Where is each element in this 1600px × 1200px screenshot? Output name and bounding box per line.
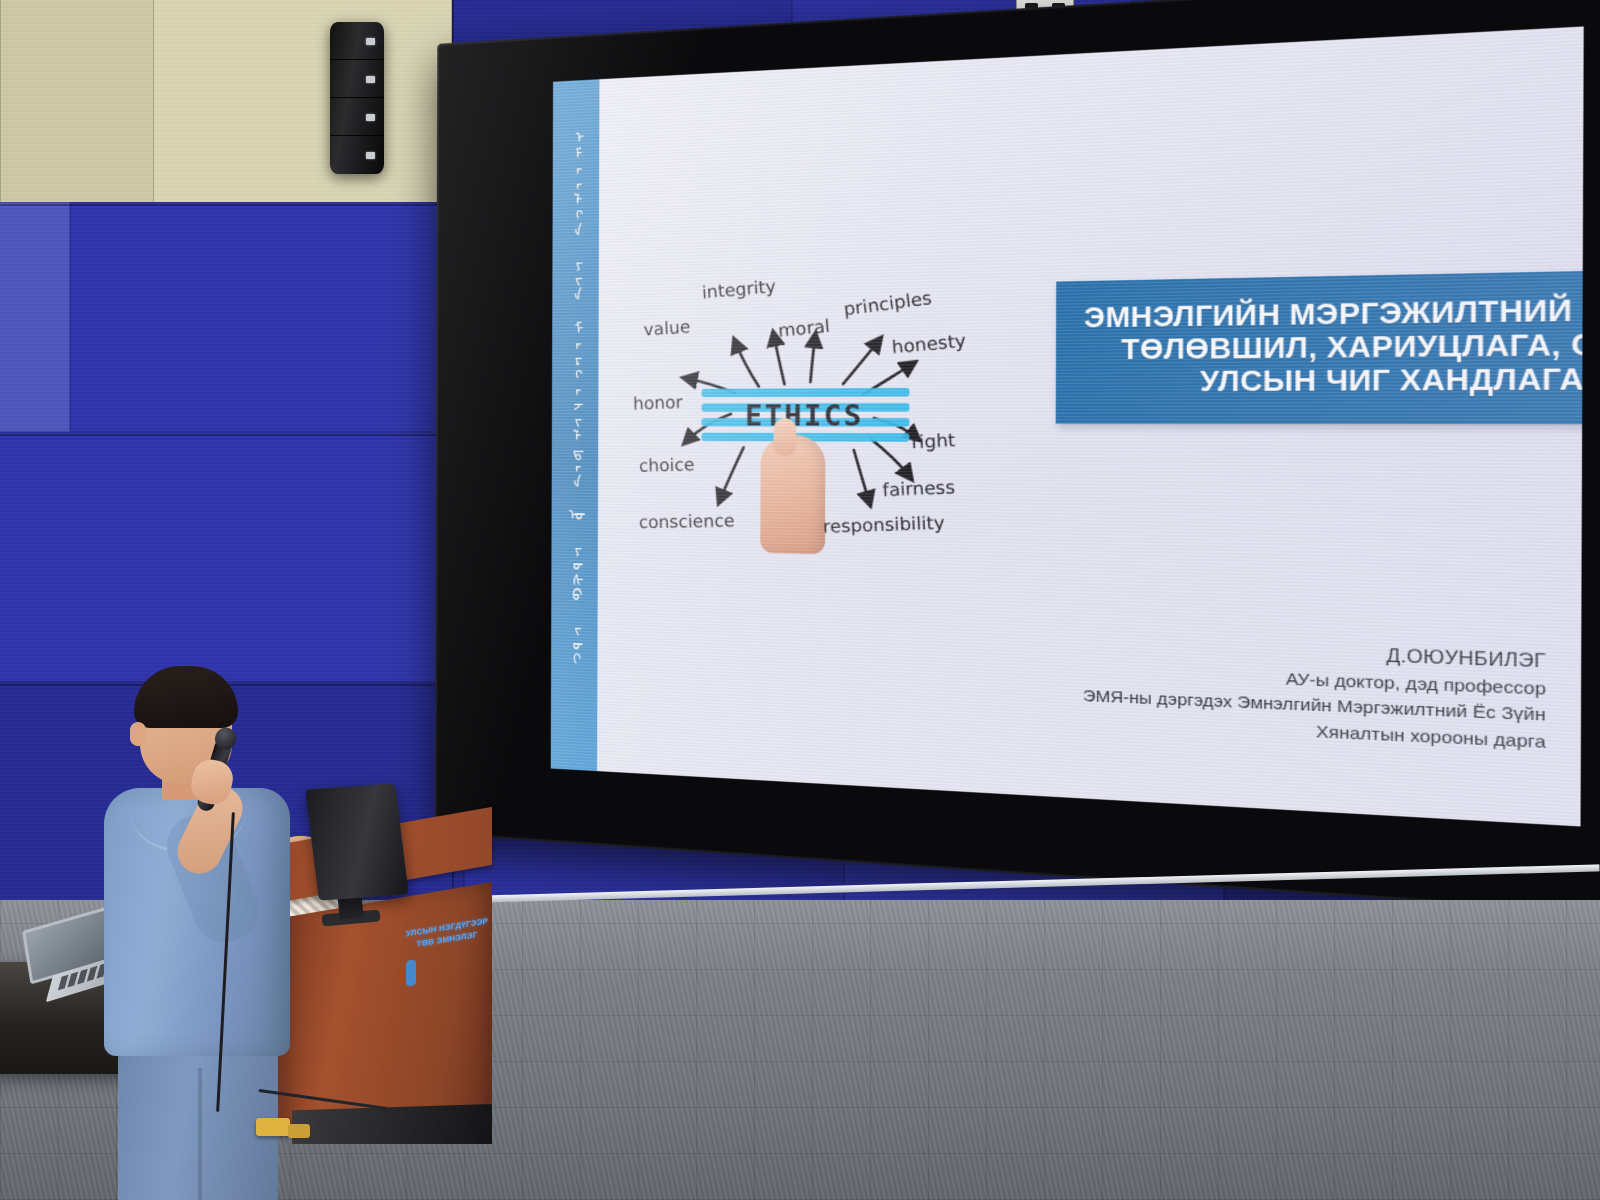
wall-panel-beige xyxy=(152,0,452,206)
slide-body: ETHICS integrity principles value moral … xyxy=(597,26,1584,826)
slide-credits: Д.ОЮУНБИЛЭГ АУ-ы доктор, дэд профессор Э… xyxy=(1083,633,1546,756)
wall-panel-beige-2 xyxy=(0,0,154,206)
podium-base xyxy=(292,1104,492,1144)
slide-sidebar: ᠡᠮᠨᠡᠯᠭᠡ ᠶᠢᠨ ᠮᠡᠷᠭᠡᠵᠢᠯᠲᠡᠨ ᠦ ᠶᠣᠰᠤ ᠵᠦᠢ xyxy=(551,79,600,771)
title-line-3: УЛСЫН ЧИГ ХАНДЛАГА xyxy=(1075,363,1584,400)
presentation-scene: ᠡᠮᠨᠡᠯᠭᠡ ᠶᠢᠨ ᠮᠡᠷᠭᠡᠵᠢᠯᠲᠡᠨ ᠦ ᠶᠣᠰᠤ ᠵᠦᠢ xyxy=(0,0,1600,1200)
mindmap-word-value: value xyxy=(643,317,691,340)
display-surface[interactable]: ᠡᠮᠨᠡᠯᠭᠡ ᠶᠢᠨ ᠮᠡᠷᠭᠡᠵᠢᠯᠲᠡᠨ ᠦ ᠶᠣᠰᠤ ᠵᠦᠢ xyxy=(551,26,1584,826)
led-display[interactable]: ᠡᠮᠨᠡᠯᠭᠡ ᠶᠢᠨ ᠮᠡᠷᠭᠡᠵᠢᠯᠲᠡᠨ ᠦ ᠶᠣᠰᠤ ᠵᠦᠢ xyxy=(435,0,1600,914)
slide-title-banner: ЭМНЭЛГИЙН МЭРГЭЖИЛТНИЙ ЁС ЗҮЙ, ТӨЛӨВШИЛ,… xyxy=(1056,268,1584,425)
mindmap-word-fairness: fairness xyxy=(882,477,956,500)
presenter-hair xyxy=(134,666,238,728)
hand-illustration xyxy=(760,435,825,554)
speaker-driver xyxy=(330,60,384,98)
mindmap-word-responsibility: responsibility xyxy=(823,512,946,537)
speaker-driver xyxy=(330,22,384,60)
title-line-2: ТӨЛӨВШИЛ, ХАРИУЦЛАГА, ОЛОН xyxy=(1075,327,1584,367)
wall-panel-i xyxy=(0,432,454,682)
mindmap-word-honor: honor xyxy=(633,392,683,414)
mindmap-word-choice: choice xyxy=(639,455,695,476)
presenter-ear xyxy=(130,722,146,746)
desktop-monitor[interactable] xyxy=(305,783,409,900)
ethics-mindmap-image: ETHICS integrity principles value moral … xyxy=(635,272,994,558)
presenter-legs xyxy=(118,1048,278,1200)
mindmap-word-right: right xyxy=(911,430,956,453)
title-line-1: ЭМНЭЛГИЙН МЭРГЭЖИЛТНИЙ ЁС ЗҮЙ, xyxy=(1075,292,1584,335)
wall-panel-mid xyxy=(70,202,452,432)
speaker-driver xyxy=(330,98,384,136)
mindmap-word-conscience: conscience xyxy=(639,511,735,533)
power-adapter[interactable] xyxy=(256,1118,290,1136)
wall-panel-light xyxy=(0,202,70,432)
speaker-driver xyxy=(330,136,384,174)
power-adapter-secondary[interactable] xyxy=(288,1124,310,1138)
mongolian-script-text: ᠡᠮᠨᠡᠯᠭᠡ ᠶᠢᠨ ᠮᠡᠷᠭᠡᠵᠢᠯᠲᠡᠨ ᠦ ᠶᠣᠰᠤ ᠵᠦᠢ xyxy=(563,129,588,667)
column-speaker-left xyxy=(330,22,384,174)
